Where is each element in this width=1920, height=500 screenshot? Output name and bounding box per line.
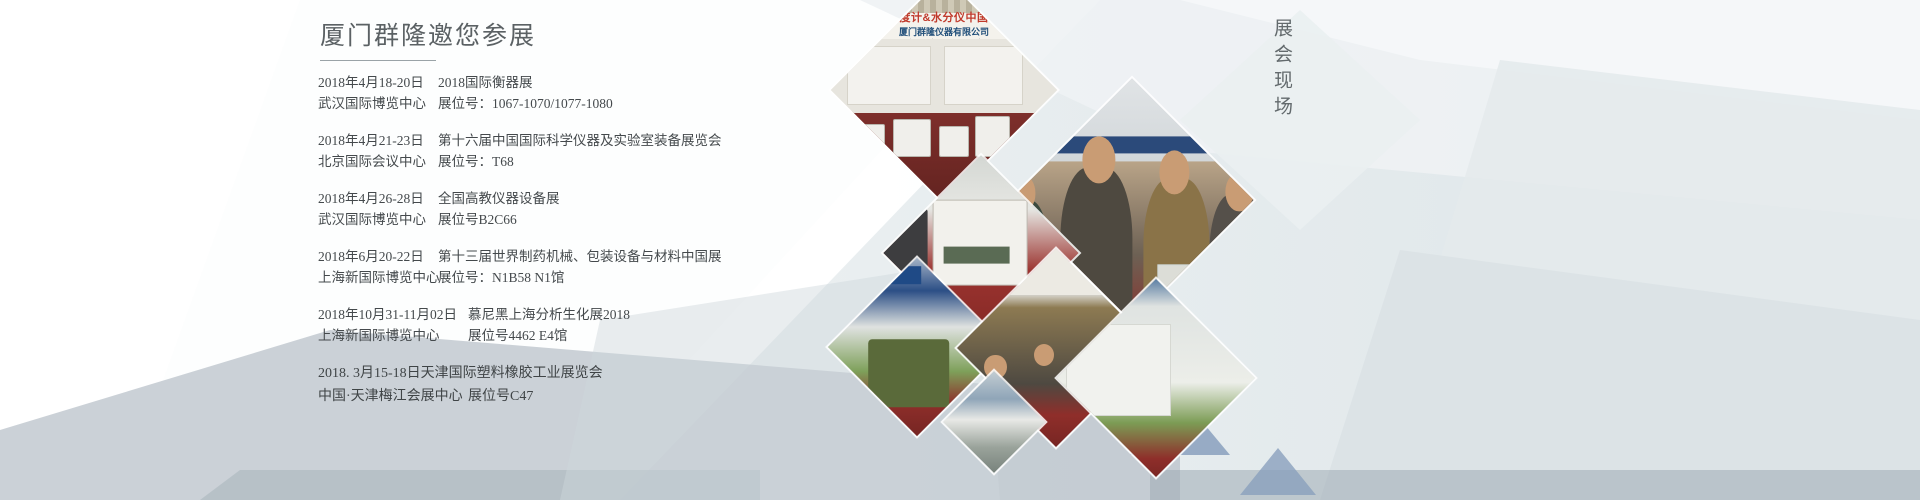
exhibition-banner: 厦门群隆邀您参展 2018年4月18-20日 2018国际衡器展 武汉国际博览中… [0, 0, 1920, 500]
event-date: 2018年10月31-11月02日 [318, 304, 468, 325]
vertical-section-label: 展会现场 [1268, 18, 1294, 122]
event-venue: 上海新国际博览中心 [318, 325, 468, 346]
event-venue: 上海新国际博览中心 [318, 267, 438, 288]
event-date: 2018年4月21-23日 [318, 130, 438, 151]
event-name: 第十六届中国国际科学仪器及实验室装备展览会 [438, 130, 722, 151]
event-name: 第十三届世界制药机械、包装设备与材料中国展 [438, 246, 722, 267]
event-booth: 展位号：N1B58 N1馆 [438, 267, 564, 288]
event-booth: 展位号B2C66 [438, 209, 517, 230]
event-venue: 武汉国际博览中心 [318, 93, 438, 114]
booth-banner-line1: 电子密度计&水分仪中国供应商 [865, 9, 1023, 25]
event-venue: 武汉国际博览中心 [318, 209, 438, 230]
photo-collage: 电子密度计&水分仪中国供应商 厦门群隆仪器有限公司 Xiamen qun lon… [840, 0, 1220, 500]
event-booth: 展位号：T68 [438, 151, 514, 172]
event-name: 2018国际衡器展 [438, 72, 533, 93]
event-name: 全国高教仪器设备展 [438, 188, 560, 209]
title-divider [320, 60, 436, 61]
event-venue: 中国·天津梅江会展中心 [318, 385, 468, 408]
event-date: 2018. 3月15-18日天津国际塑料橡胶工业展览会 [318, 362, 603, 385]
event-venue: 北京国际会议中心 [318, 151, 438, 172]
event-date: 2018年6月20-22日 [318, 246, 438, 267]
event-booth: 展位号C47 [468, 385, 533, 408]
event-date: 2018年4月26-28日 [318, 188, 438, 209]
event-date: 2018年4月18-20日 [318, 72, 438, 93]
event-name: 慕尼黑上海分析生化展2018 [468, 304, 630, 325]
booth-banner-line2: 厦门群隆仪器有限公司 [899, 25, 989, 38]
collage-photo-booth-overview: 电子密度计&水分仪中国供应商 厦门群隆仪器有限公司 Xiamen qun lon… [831, 0, 1057, 203]
event-booth: 展位号4462 E4馆 [468, 325, 567, 346]
event-booth: 展位号：1067-1070/1077-1080 [438, 93, 613, 114]
